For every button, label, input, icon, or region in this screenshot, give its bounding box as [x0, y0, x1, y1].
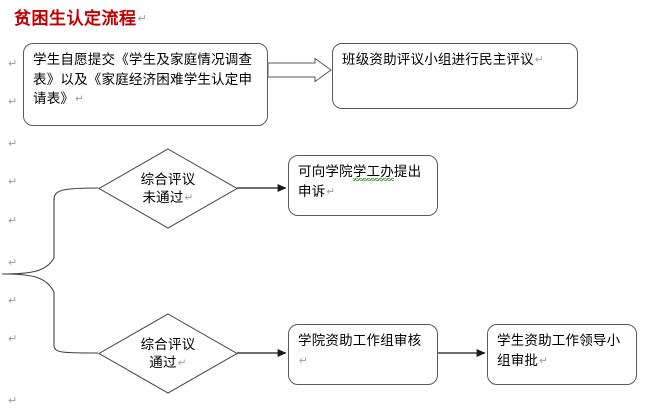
paragraph-mark-icon: ↵: [8, 138, 17, 149]
paragraph-mark-icon: ↵: [8, 333, 17, 344]
paragraph-mark-icon: ↵: [8, 176, 17, 187]
node-application-label: 学生自愿提交《学生及家庭情况调查表》以及《家庭经济困难学生认定申请表》↵: [33, 51, 261, 110]
grammar-error-underline: 学工办: [353, 164, 394, 181]
node-application-box[interactable]: 学生自愿提交《学生及家庭情况调查表》以及《家庭经济困难学生认定申请表》↵: [23, 43, 268, 126]
paragraph-mark-icon: ↵: [8, 257, 17, 268]
node-appeal-label: 可向学院学工办提出申诉↵: [298, 163, 431, 202]
node-leadership-box[interactable]: 学生资助工作领导小组审批↵: [487, 324, 637, 385]
paragraph-mark-icon: ↵: [8, 58, 17, 69]
node-decision-fail[interactable]: 综合评议 未通过↵: [98, 148, 238, 229]
node-college-review-box[interactable]: 学院资助工作组审核↵: [288, 324, 438, 385]
paragraph-mark-icon: ↵: [138, 12, 148, 25]
paragraph-mark-icon: ↵: [8, 295, 17, 306]
page-title-text: 贫困生认定流程: [14, 9, 137, 29]
diamond-shape-icon: [98, 313, 238, 394]
flowchart-canvas: 贫困生认定流程↵ ↵ ↵ ↵ ↵ ↵ ↵ ↵ ↵ ↵ 学生自愿提交《学: [0, 0, 669, 411]
paragraph-mark-icon: ↵: [535, 54, 544, 66]
paragraph-mark-icon: ↵: [326, 186, 335, 198]
node-class-review-label: 班级资助评议小组进行民主评议↵: [342, 51, 571, 71]
node-decision-pass[interactable]: 综合评议 通过↵: [98, 313, 238, 394]
node-appeal-box[interactable]: 可向学院学工办提出申诉↵: [288, 155, 438, 216]
paragraph-mark-icon: ↵: [8, 215, 17, 226]
paragraph-mark-icon: ↵: [539, 355, 548, 367]
branch-connector-left: [2, 188, 98, 353]
paragraph-mark-icon: ↵: [75, 93, 84, 105]
diamond-shape-icon: [98, 148, 238, 229]
node-leadership-label: 学生资助工作领导小组审批↵: [497, 332, 630, 371]
paragraph-mark-icon: ↵: [8, 395, 17, 406]
paragraph-mark-icon: ↵: [299, 355, 308, 367]
node-class-review-box[interactable]: 班级资助评议小组进行民主评议↵: [332, 43, 578, 109]
block-arrow-right-icon: [268, 59, 331, 82]
paragraph-mark-icon: ↵: [8, 96, 17, 107]
node-college-review-label: 学院资助工作组审核↵: [298, 332, 431, 371]
page-title: 贫困生认定流程↵: [14, 11, 147, 28]
